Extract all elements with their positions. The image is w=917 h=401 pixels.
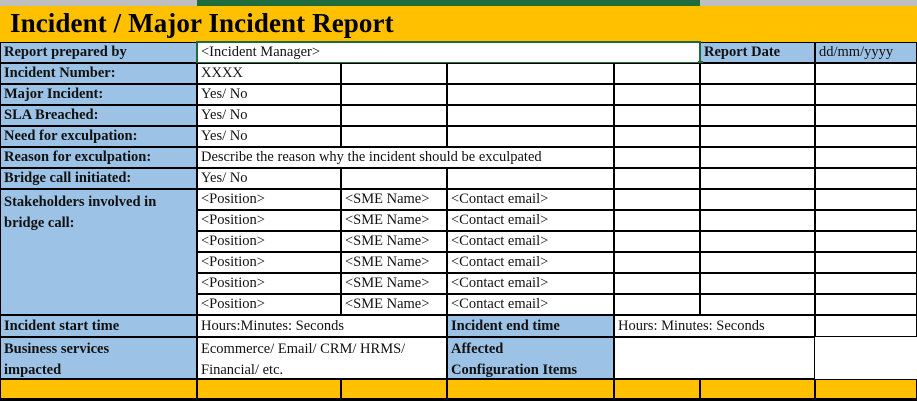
label-business-services-impacted: Business services impacted	[0, 337, 197, 379]
label-incident-end-time: Incident end time	[447, 315, 614, 337]
spacer-cell[interactable]	[815, 126, 917, 147]
footer-cell[interactable]	[614, 379, 700, 399]
spacer-cell[interactable]	[614, 273, 700, 294]
value-affected-configuration-items[interactable]	[614, 337, 815, 379]
spacer-cell[interactable]	[815, 315, 917, 337]
label-affected-configuration-items: Affected Configuration Items	[447, 337, 614, 379]
spacer-cell[interactable]	[815, 105, 917, 126]
value-report-prepared-by[interactable]: <Incident Manager>	[197, 42, 700, 63]
value-bridge-call-initiated[interactable]: Yes/ No	[197, 168, 341, 189]
stakeholder-email[interactable]: <Contact email>	[447, 273, 614, 294]
spacer-cell[interactable]	[341, 105, 447, 126]
label-stakeholders-line2: bridge call:	[4, 213, 196, 234]
spacer-cell[interactable]	[447, 126, 614, 147]
label-business-services-line1: Business services	[4, 339, 196, 360]
stakeholder-email[interactable]: <Contact email>	[447, 189, 614, 210]
incident-report-sheet: Incident / Major Incident Report Report …	[0, 0, 917, 401]
spacer-cell[interactable]	[447, 105, 614, 126]
value-business-services-line2: Financial/ etc.	[201, 360, 446, 379]
stakeholder-email[interactable]: <Contact email>	[447, 294, 614, 315]
value-incident-number[interactable]: XXXX	[197, 63, 341, 84]
spacer-cell[interactable]	[815, 84, 917, 105]
spacer-cell[interactable]	[700, 231, 815, 252]
spacer-cell[interactable]	[815, 337, 917, 379]
spacer-cell[interactable]	[815, 189, 917, 210]
stakeholder-name[interactable]: <SME Name>	[341, 231, 447, 252]
spacer-cell[interactable]	[614, 126, 700, 147]
value-incident-start-time[interactable]: Hours:Minutes: Seconds	[197, 315, 447, 337]
spacer-cell[interactable]	[447, 168, 614, 189]
value-need-for-exculpation[interactable]: Yes/ No	[197, 126, 341, 147]
footer-cell[interactable]	[341, 379, 447, 399]
spacer-cell[interactable]	[614, 84, 700, 105]
stakeholder-name[interactable]: <SME Name>	[341, 210, 447, 231]
label-report-date: Report Date	[700, 42, 815, 63]
value-major-incident[interactable]: Yes/ No	[197, 84, 341, 105]
label-stakeholders-line1: Stakeholders involved in	[4, 192, 196, 213]
spacer-cell[interactable]	[447, 84, 614, 105]
value-reason-for-exculpation[interactable]: Describe the reason why the incident sho…	[197, 147, 614, 168]
label-incident-start-time: Incident start time	[0, 315, 197, 337]
spacer-cell[interactable]	[700, 84, 815, 105]
spacer-cell[interactable]	[614, 168, 700, 189]
stakeholder-position[interactable]: <Position>	[197, 189, 341, 210]
label-bridge-call-initiated: Bridge call initiated:	[0, 168, 197, 189]
spacer-cell[interactable]	[700, 63, 815, 84]
spacer-cell[interactable]	[700, 252, 815, 273]
spacer-cell[interactable]	[815, 252, 917, 273]
spacer-cell[interactable]	[614, 189, 700, 210]
spacer-cell[interactable]	[341, 84, 447, 105]
stakeholder-email[interactable]: <Contact email>	[447, 210, 614, 231]
label-need-for-exculpation: Need for exculpation:	[0, 126, 197, 147]
spacer-cell[interactable]	[341, 63, 447, 84]
value-business-services-line1: Ecommerce/ Email/ CRM/ HRMS/	[201, 339, 446, 360]
spacer-cell[interactable]	[815, 168, 917, 189]
stakeholder-name[interactable]: <SME Name>	[341, 273, 447, 294]
footer-cell[interactable]	[197, 379, 341, 399]
label-stakeholders: Stakeholders involved in bridge call:	[0, 189, 197, 315]
label-report-prepared-by: Report prepared by	[0, 42, 197, 63]
value-sla-breached[interactable]: Yes/ No	[197, 105, 341, 126]
value-business-services-impacted[interactable]: Ecommerce/ Email/ CRM/ HRMS/ Financial/ …	[197, 337, 447, 379]
spacer-cell[interactable]	[447, 63, 614, 84]
label-incident-number: Incident Number:	[0, 63, 197, 84]
spacer-cell[interactable]	[700, 294, 815, 315]
spacer-cell[interactable]	[700, 147, 815, 168]
value-incident-end-time[interactable]: Hours: Minutes: Seconds	[614, 315, 815, 337]
spacer-cell[interactable]	[614, 231, 700, 252]
spacer-cell[interactable]	[614, 63, 700, 84]
stakeholder-position[interactable]: <Position>	[197, 273, 341, 294]
value-report-date[interactable]: dd/mm/yyyy	[815, 42, 917, 63]
spacer-cell[interactable]	[815, 294, 917, 315]
spacer-cell[interactable]	[341, 126, 447, 147]
stakeholder-position[interactable]: <Position>	[197, 210, 341, 231]
label-business-services-line2: impacted	[4, 360, 196, 379]
stakeholder-email[interactable]: <Contact email>	[447, 231, 614, 252]
spacer-cell[interactable]	[700, 126, 815, 147]
label-sla-breached: SLA Breached:	[0, 105, 197, 126]
footer-cell[interactable]	[447, 379, 614, 399]
spacer-cell[interactable]	[815, 231, 917, 252]
footer-cell[interactable]	[700, 379, 815, 399]
spacer-cell[interactable]	[815, 273, 917, 294]
report-title-band: Incident / Major Incident Report	[0, 6, 917, 42]
spacer-cell[interactable]	[700, 105, 815, 126]
footer-cell[interactable]	[0, 379, 197, 399]
stakeholder-position[interactable]: <Position>	[197, 294, 341, 315]
stakeholder-name[interactable]: <SME Name>	[341, 252, 447, 273]
spacer-cell[interactable]	[614, 147, 700, 168]
spacer-cell[interactable]	[700, 189, 815, 210]
spacer-cell[interactable]	[700, 168, 815, 189]
stakeholder-position[interactable]: <Position>	[197, 231, 341, 252]
page-title: Incident / Major Incident Report	[10, 8, 394, 39]
stakeholder-name[interactable]: <SME Name>	[341, 294, 447, 315]
spacer-cell[interactable]	[341, 168, 447, 189]
stakeholder-email[interactable]: <Contact email>	[447, 252, 614, 273]
spacer-cell[interactable]	[614, 105, 700, 126]
label-affected-ci-line1: Affected	[451, 339, 613, 360]
footer-cell[interactable]	[815, 379, 917, 399]
label-major-incident: Major Incident:	[0, 84, 197, 105]
stakeholder-position[interactable]: <Position>	[197, 252, 341, 273]
stakeholder-name[interactable]: <SME Name>	[341, 189, 447, 210]
spacer-cell[interactable]	[700, 273, 815, 294]
label-affected-ci-line2: Configuration Items	[451, 360, 613, 379]
spacer-cell[interactable]	[815, 63, 917, 84]
spacer-cell[interactable]	[614, 252, 700, 273]
spacer-cell[interactable]	[815, 210, 917, 231]
spacer-cell[interactable]	[815, 147, 917, 168]
spacer-cell[interactable]	[700, 210, 815, 231]
spacer-cell[interactable]	[614, 210, 700, 231]
spacer-cell[interactable]	[614, 294, 700, 315]
label-reason-for-exculpation: Reason for exculpation:	[0, 147, 197, 168]
